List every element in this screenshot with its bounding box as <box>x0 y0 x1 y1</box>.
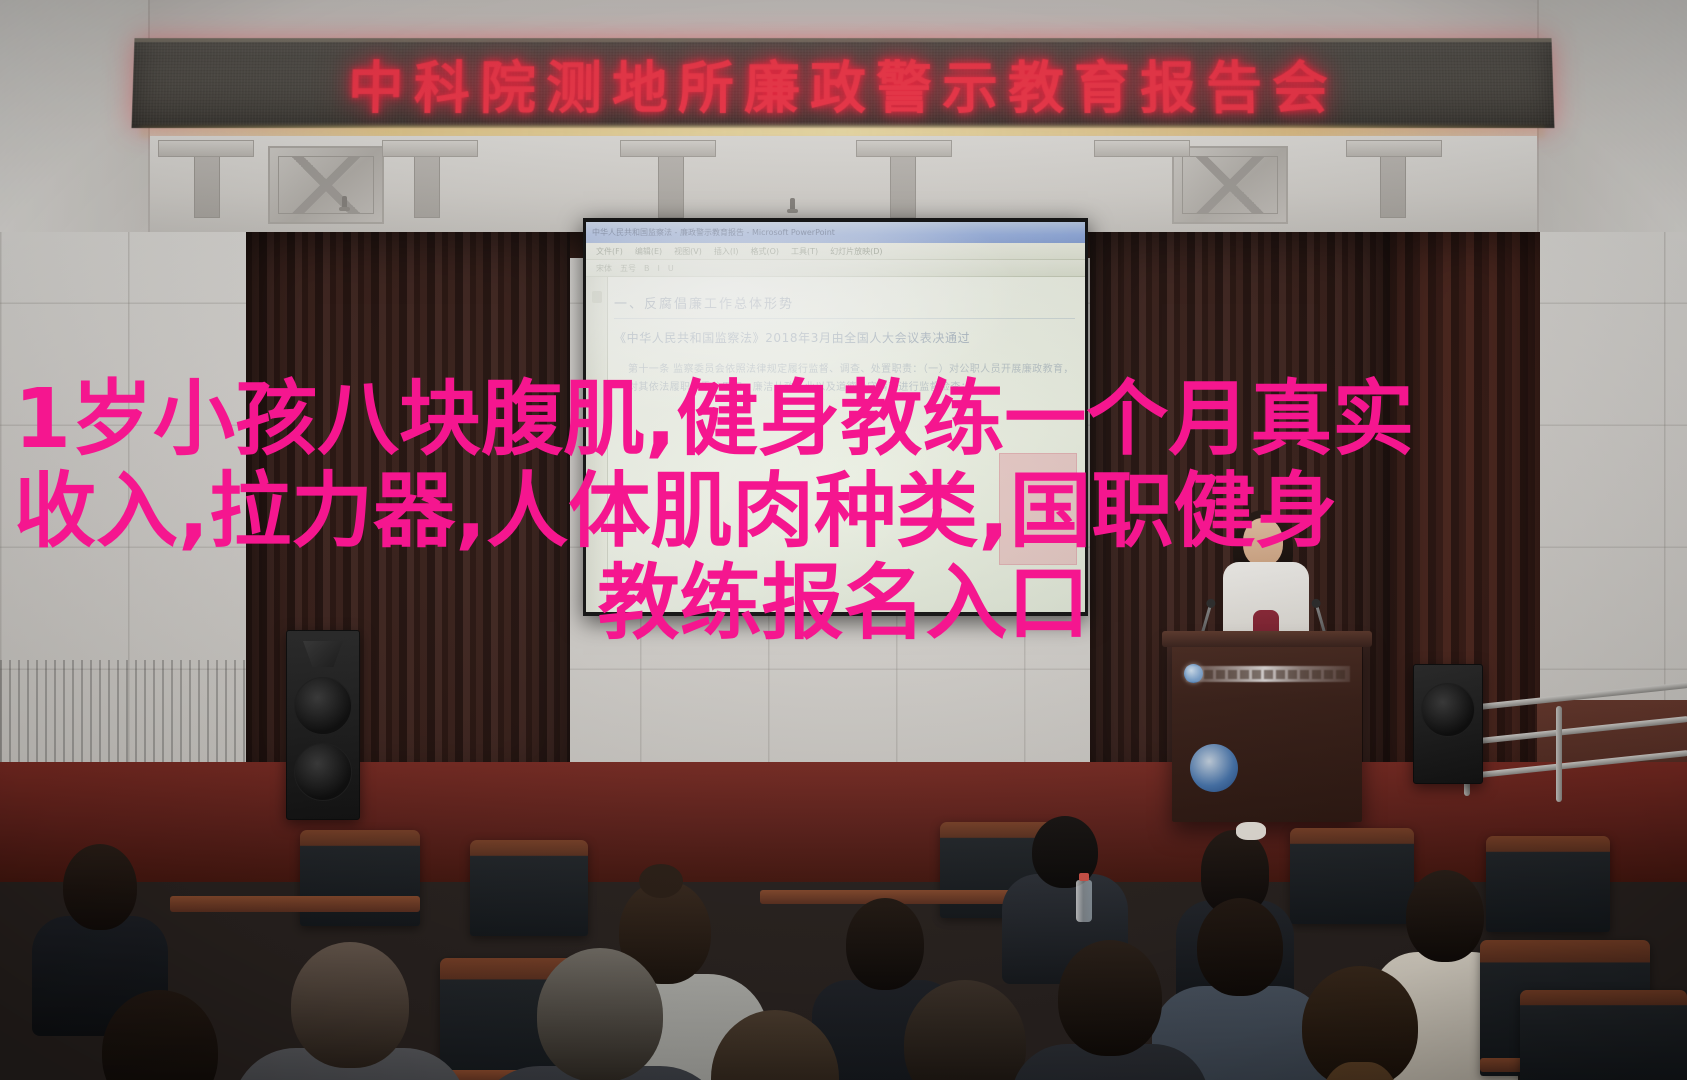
audience-person-back-3 <box>30 838 170 1008</box>
ppt-titlebar-text: 中华人民共和国监察法 - 廉政警示教育报告 - Microsoft PowerP… <box>592 227 835 238</box>
audience-person-front-7 <box>640 1010 910 1080</box>
vent-strip-2 <box>382 140 478 157</box>
ac-vent-left <box>268 146 384 224</box>
vent-strip-1 <box>158 140 254 157</box>
audience-person-back-1 <box>1000 810 1130 960</box>
ceiling-slot-1 <box>194 152 220 218</box>
sprinkler-2 <box>790 198 795 211</box>
head <box>1058 940 1162 1056</box>
head <box>904 980 1026 1080</box>
head <box>63 844 137 930</box>
overlay-line-2: 收入,拉力器,人体肌肉种类,国职健身 <box>14 466 1673 558</box>
slide-heading: 一、反腐倡廉工作总体形势 <box>614 293 1075 319</box>
audience-person-front-5 <box>1230 966 1490 1080</box>
audience-area <box>0 690 1687 1080</box>
ac-vent-right <box>1172 146 1288 224</box>
ppt-menu-edit: 编辑(E) <box>635 246 662 257</box>
overlay-title-text: 1岁小孩八块腹肌,健身教练一个月真实 收入,拉力器,人体肌肉种类,国职健身 教练… <box>0 374 1687 649</box>
ppt-titlebar: 中华人民共和国监察法 - 廉政警示教育报告 - Microsoft PowerP… <box>586 222 1085 243</box>
ppt-menu-file: 文件(F) <box>596 246 623 257</box>
ceiling-slot-4 <box>890 152 916 218</box>
audience-person-front-6 <box>1010 940 1210 1080</box>
ppt-bold-icon: B <box>644 264 650 273</box>
vent-strip-4 <box>856 140 952 157</box>
ppt-menu-show: 幻灯片放映(D) <box>830 246 882 257</box>
conference-photo-scene: 中科院测地所廉政警示教育报告会 中华人民共和国监察法 - 廉政警示教育报告 - … <box>0 0 1687 1080</box>
ppt-font-size: 五号 <box>620 263 636 274</box>
hair-bun <box>639 864 683 898</box>
vent-strip-5 <box>1094 140 1190 157</box>
water-bottle <box>1076 880 1092 922</box>
ppt-underline-icon: U <box>668 264 674 273</box>
head <box>711 1010 839 1080</box>
vent-strip-6 <box>1346 140 1442 157</box>
ceiling-slot-3 <box>658 152 684 218</box>
head <box>102 990 218 1080</box>
ceiling-slot-5 <box>1380 152 1406 218</box>
row-desk-left <box>170 896 420 912</box>
ppt-toolbar: 宋体 五号 B I U <box>586 260 1085 277</box>
chair-front-3 <box>1520 990 1687 1080</box>
ppt-menu-view: 视图(V) <box>674 246 702 257</box>
ppt-menu-insert: 插入(I) <box>714 246 739 257</box>
led-banner-text: 中科院测地所廉政警示教育报告会 <box>347 43 1339 124</box>
slide-paragraph: 《中华人民共和国监察法》2018年3月由全国人大会议表决通过 <box>614 329 1075 349</box>
ppt-menu-tools: 工具(T) <box>791 246 818 257</box>
vent-strip-3 <box>620 140 716 157</box>
ppt-menubar: 文件(F) 编辑(E) 视图(V) 插入(I) 格式(O) 工具(T) 幻灯片放… <box>586 243 1085 260</box>
ceiling-slot-2 <box>414 152 440 218</box>
sprinkler-1 <box>342 196 347 209</box>
head <box>1406 870 1484 962</box>
ppt-menu-format: 格式(O) <box>750 246 779 257</box>
head <box>846 898 924 990</box>
overlay-line-3: 教练报名入口 <box>14 558 1673 650</box>
hair-bow <box>1236 822 1266 840</box>
audience-person-front-2 <box>40 990 280 1080</box>
overlay-line-1: 1岁小孩八块腹肌,健身教练一个月真实 <box>14 374 1673 466</box>
ppt-font-name: 宋体 <box>596 263 612 274</box>
ppt-italic-icon: I <box>658 264 660 273</box>
podium-nameplate <box>1186 666 1350 682</box>
led-banner-board: 中科院测地所廉政警示教育报告会 <box>132 38 1555 128</box>
head <box>291 942 409 1068</box>
